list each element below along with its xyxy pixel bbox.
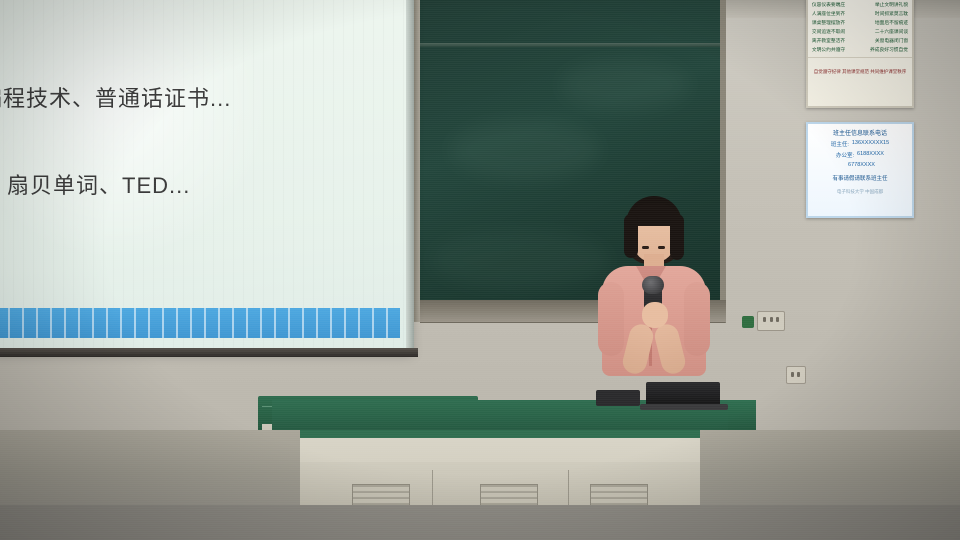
poster-phone-note: 有事请假请联系班主任 (808, 174, 912, 182)
eye-right (658, 246, 665, 249)
poster-rules-row: 文明公约共遵守 养成良好习惯自觉 (808, 45, 912, 54)
projection-screen: 编程技术、普通话证书... 、扇贝单词、TED... (0, 0, 412, 352)
slide-text-line-2: 、扇贝单词、TED... (0, 168, 190, 200)
poster-rules-cell: 举止文明讲礼貌 (875, 1, 908, 8)
poster-rules-row: 人满座位坐到齐 时间抓紧莫言耽 (808, 9, 912, 18)
poster-rules-cell: 离开教室整洁齐 (812, 37, 845, 44)
poster-phone-value: 6188XXXX (857, 151, 884, 159)
poster-phone-footer: 电子科技大学 中国成都 (808, 189, 912, 195)
chalk-smudge-3 (430, 230, 610, 290)
poster-rules-row: 离开教室整洁齐 关窗电器闭门窗 (808, 36, 912, 45)
slide-accent-band (0, 308, 400, 338)
poster-rules-cell: 关窗电器闭门窗 (875, 37, 908, 44)
hair-side-left (624, 214, 638, 258)
screen-right-edge (406, 0, 414, 352)
poster-rules-cell: 交闹追逐不取闹 (812, 28, 845, 35)
laptop-base (640, 404, 728, 410)
poster-rules-cell: 二十六座课间谈 (875, 28, 908, 35)
poster-rules-cell: 课桌整理摆放齐 (812, 19, 845, 26)
slide-accent-stripes (0, 308, 400, 338)
laptop (646, 382, 720, 406)
poster-rules-cell: 时间抓紧莫言耽 (875, 10, 908, 17)
poster-rules-cell: 仪容仪表要端庄 (812, 1, 845, 8)
poster-rules-cell: 文明公约共遵守 (812, 46, 845, 53)
poster-rules-row: 仪容仪表要端庄 举止文明讲礼貌 (808, 0, 912, 9)
power-socket-upper (757, 311, 785, 331)
poster-phone-value: 136XXXXXX15 (852, 140, 889, 148)
chalk-smudge-1 (450, 120, 600, 180)
microphone-head (642, 276, 664, 294)
poster-rules-cell: 养成良好习惯自觉 (870, 46, 908, 53)
wall-speaker-icon (742, 316, 754, 328)
poster-rules-cell: 地面后不留痕迹 (875, 19, 908, 26)
poster-phone-row: 办公室: 6188XXXX (808, 151, 912, 159)
hair-side-right (670, 214, 684, 260)
poster-phone-row: 6778XXXX (808, 162, 912, 168)
poster-phone-row: 班主任: 136XXXXXX15 (808, 140, 912, 148)
presenter (592, 196, 712, 408)
poster-rules-row: 交闹追逐不取闹 二十六座课间谈 (808, 27, 912, 36)
desk-object (596, 390, 640, 406)
poster-classroom-rules: 仪容仪表要端庄 举止文明讲礼貌 人满座位坐到齐 时间抓紧莫言耽 课桌整理摆放齐 … (806, 0, 914, 108)
floor (0, 505, 960, 540)
arm-right (684, 282, 710, 356)
poster-rules-row: 课桌整理摆放齐 地面后不留痕迹 (808, 18, 912, 27)
poster-phone-title: 班主任信息联系电话 (808, 128, 912, 137)
chalk-smudge-2 (560, 60, 690, 110)
slide-text-line-1: 编程技术、普通话证书... (0, 81, 231, 113)
screen-bottom-bar (0, 348, 418, 357)
poster-phone-label: 办公室: (836, 151, 854, 159)
hands (642, 302, 668, 328)
poster-rules-footer: 自觉遵守纪律 其他课堂规范 共同维护课堂秩序 (808, 57, 912, 78)
arm-left (598, 282, 624, 356)
poster-phone-label: 班主任: (831, 140, 849, 148)
eye-left (642, 246, 649, 249)
poster-rules-cell: 人满座位坐到齐 (812, 10, 845, 17)
blackboard-rail (420, 43, 720, 47)
classroom-photo: 编程技术、普通话证书... 、扇贝单词、TED... 仪容仪表要端庄 举止文明讲… (0, 0, 960, 540)
power-socket-lower (786, 366, 806, 384)
poster-rules-footer-text: 自觉遵守纪律 其他课堂规范 共同维护课堂秩序 (814, 69, 907, 74)
poster-phone-value: 6778XXXX (848, 162, 875, 168)
poster-contact-phone: 班主任信息联系电话 班主任: 136XXXXXX15 办公室: 6188XXXX… (806, 122, 914, 218)
